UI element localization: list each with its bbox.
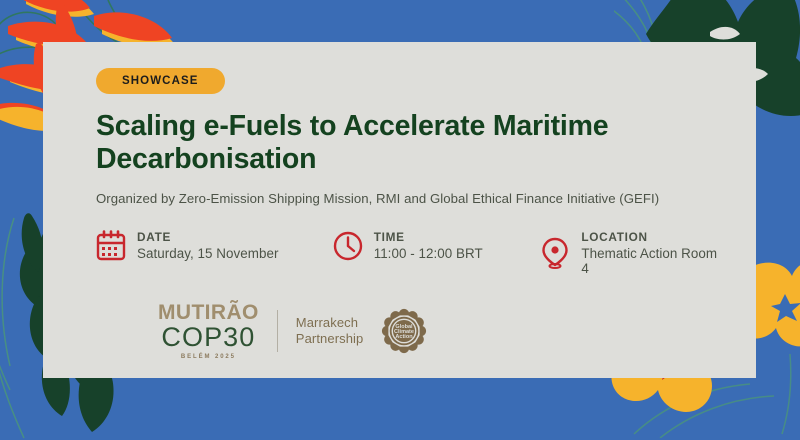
showcase-badge: SHOWCASE xyxy=(96,68,225,94)
marrakech-partnership-logo: Marrakech Partnership xyxy=(296,315,364,347)
meta-item-date: DATE Saturday, 15 November xyxy=(96,230,333,262)
meta-value-location: Thematic Action Room 4 xyxy=(581,246,722,276)
meta-label-date: DATE xyxy=(137,230,278,244)
cop30-logo: MUTIRÃO COP30 BELÉM 2025 xyxy=(158,302,259,360)
meta-label-time: TIME xyxy=(374,230,483,244)
marrakech-line-2: Partnership xyxy=(296,331,364,347)
meta-item-location: LOCATION Thematic Action Room 4 xyxy=(540,230,722,276)
clock-icon xyxy=(333,230,363,262)
meta-item-time: TIME 11:00 - 12:00 BRT xyxy=(333,230,541,262)
global-climate-action-seal: Global Climate Action xyxy=(381,308,427,354)
event-card: SHOWCASE Scaling e-Fuels to Accelerate M… xyxy=(43,42,756,378)
page-title: Scaling e-Fuels to Accelerate Maritime D… xyxy=(96,110,716,177)
calendar-icon xyxy=(96,230,126,262)
logo-divider xyxy=(277,310,278,352)
event-meta-row: DATE Saturday, 15 November TIME 11:00 - … xyxy=(96,230,722,276)
meta-label-location: LOCATION xyxy=(581,230,722,244)
pin-icon xyxy=(540,237,570,269)
logo-strip: MUTIRÃO COP30 BELÉM 2025 Marrakech Partn… xyxy=(158,302,427,360)
seal-line-3: Action xyxy=(396,334,414,340)
marrakech-line-1: Marrakech xyxy=(296,315,364,331)
cop30-mutirao-text: MUTIRÃO xyxy=(158,302,259,323)
meta-value-date: Saturday, 15 November xyxy=(137,246,278,261)
cop30-belem-text: BELÉM 2025 xyxy=(181,354,236,360)
organizer-text: Organized by Zero-Emission Shipping Miss… xyxy=(96,191,722,206)
meta-value-time: 11:00 - 12:00 BRT xyxy=(374,246,483,261)
cop30-wordmark: COP30 xyxy=(161,323,255,352)
